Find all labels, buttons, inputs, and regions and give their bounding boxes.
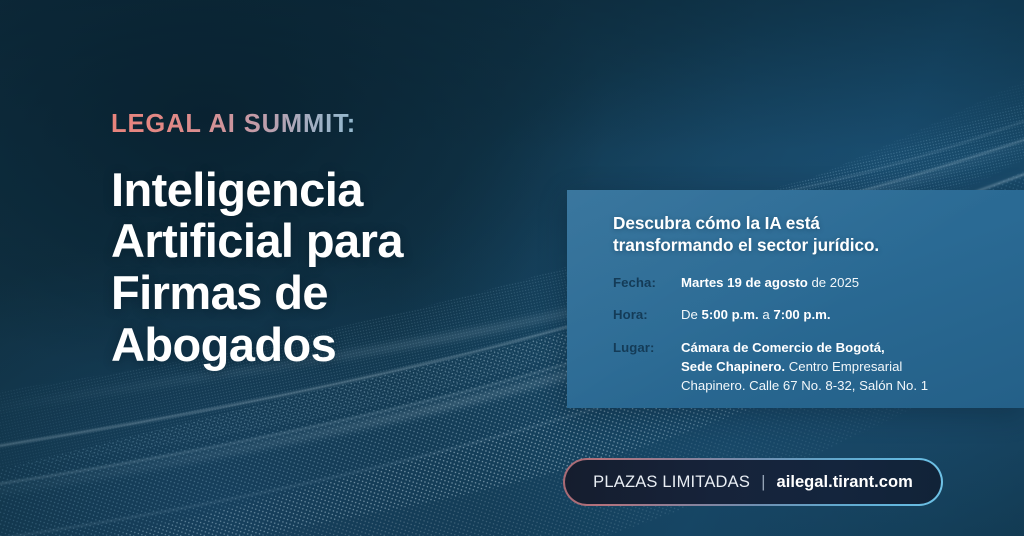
cta-left-label: PLAZAS LIMITADAS (593, 473, 750, 492)
panel-lede-line-2: transformando el sector jurídico. (613, 234, 1000, 256)
page-title: Inteligencia Artificial para Firmas de A… (111, 164, 541, 372)
detail-row-hora: Hora: De 5:00 p.m. a 7:00 p.m. (613, 306, 1000, 325)
eyebrow-label: LEGAL AI SUMMIT: (111, 112, 541, 138)
detail-row-fecha: Fecha: Martes 19 de agosto de 2025 (613, 274, 1000, 293)
detail-row-lugar: Lugar: Cámara de Comercio de Bogotá, Sed… (613, 339, 1000, 395)
cta-pill-button[interactable]: PLAZAS LIMITADAS | ailegal.tirant.com (563, 458, 943, 506)
headline-line-2: Artificial para (111, 215, 541, 267)
panel-lede-line-1: Descubra cómo la IA está (613, 212, 1000, 234)
cta-container: PLAZAS LIMITADAS | ailegal.tirant.com (563, 458, 943, 506)
detail-value-hora-end: 7:00 p.m. (773, 307, 830, 322)
detail-value-lugar-line-1-strong: Cámara de Comercio de Bogotá, (681, 340, 885, 355)
detail-value-hora-prefix: De (681, 307, 702, 322)
headline-line-4: Abogados (111, 319, 541, 371)
event-details-panel: Descubra cómo la IA está transformando e… (567, 190, 1024, 408)
detail-value-lugar-line-3: Chapinero. Calle 67 No. 8-32, Salón No. … (681, 377, 928, 396)
detail-value-fecha-strong: Martes 19 de agosto (681, 275, 808, 290)
detail-value-lugar-line-2: Sede Chapinero. Centro Empresarial (681, 358, 928, 377)
cta-face[interactable]: PLAZAS LIMITADAS | ailegal.tirant.com (565, 460, 942, 505)
headline-block: LEGAL AI SUMMIT: Inteligencia Artificial… (111, 112, 541, 371)
headline-line-3: Firmas de (111, 267, 541, 319)
detail-value-hora: De 5:00 p.m. a 7:00 p.m. (681, 306, 831, 325)
panel-lede: Descubra cómo la IA está transformando e… (613, 212, 1000, 257)
detail-value-lugar-line-2-rest: Centro Empresarial (785, 359, 902, 374)
detail-value-hora-start: 5:00 p.m. (702, 307, 759, 322)
detail-value-hora-mid: a (759, 307, 774, 322)
detail-value-fecha: Martes 19 de agosto de 2025 (681, 274, 859, 293)
cta-url-label[interactable]: ailegal.tirant.com (777, 473, 913, 492)
poster-canvas: LEGAL AI SUMMIT: Inteligencia Artificial… (0, 0, 1024, 536)
detail-value-lugar: Cámara de Comercio de Bogotá, Sede Chapi… (681, 339, 928, 395)
detail-value-fecha-rest: de 2025 (808, 275, 859, 290)
detail-value-lugar-line-2-strong: Sede Chapinero. (681, 359, 785, 374)
detail-label-hora: Hora: (613, 306, 681, 325)
cta-separator: | (761, 473, 765, 490)
detail-value-lugar-line-1: Cámara de Comercio de Bogotá, (681, 339, 928, 358)
detail-label-lugar: Lugar: (613, 339, 681, 358)
headline-line-1: Inteligencia (111, 164, 541, 216)
detail-label-fecha: Fecha: (613, 274, 681, 293)
